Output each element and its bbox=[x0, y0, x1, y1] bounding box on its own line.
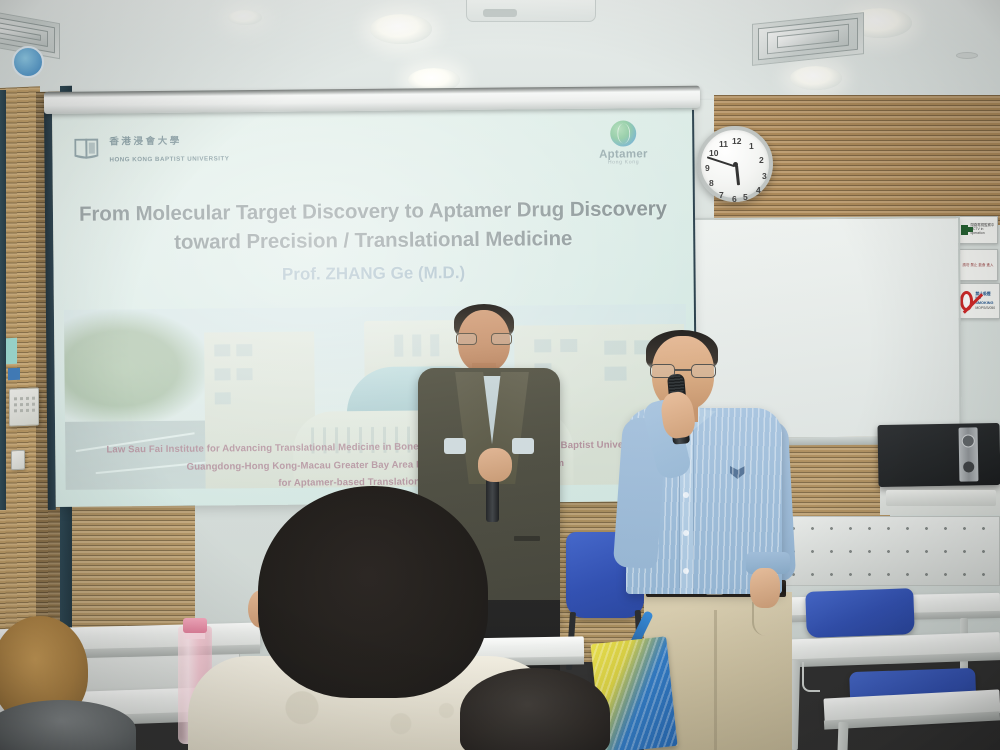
clock-hour-hand bbox=[735, 165, 740, 185]
hands bbox=[478, 448, 512, 482]
hkbu-logo: 香港浸會大學 HONG KONG BAPTIST UNIVERSITY bbox=[74, 130, 229, 166]
bottle-cap[interactable] bbox=[183, 618, 207, 633]
projector-mount bbox=[466, 0, 596, 22]
desk-modesty-panel bbox=[764, 516, 1000, 586]
clock-numeral: 2 bbox=[759, 155, 764, 165]
prohibition-notice: 請勿 禁止 飲食 進入 bbox=[958, 249, 998, 281]
no-smoking-code: MOPS/S/050 bbox=[975, 306, 997, 310]
clock-numeral: 12 bbox=[732, 136, 741, 146]
av-control-panel[interactable] bbox=[9, 387, 39, 426]
prohibition-notice-text: 請勿 禁止 飲食 進入 bbox=[962, 263, 993, 267]
hkbu-logo-chinese: 香港浸會大學 bbox=[109, 136, 182, 148]
clock-numeral: 11 bbox=[719, 139, 728, 149]
smoke-detector-icon bbox=[956, 52, 978, 59]
dell-monitor bbox=[877, 423, 1000, 487]
slide-title-line1: From Molecular Target Discovery to Aptam… bbox=[79, 197, 667, 226]
ceiling-downlight bbox=[228, 10, 262, 25]
ceiling-downlight bbox=[790, 66, 842, 90]
blazer-pocket bbox=[514, 536, 540, 541]
dna-globe-icon bbox=[610, 120, 636, 146]
shirt-button bbox=[683, 530, 689, 536]
no-smoking-icon bbox=[960, 291, 973, 311]
clock-numeral: 1 bbox=[749, 141, 754, 151]
glasses-icon bbox=[456, 333, 512, 345]
aptamer-logo: Aptamer Hong Kong bbox=[588, 120, 658, 166]
shirt-cuff bbox=[512, 438, 534, 454]
shirt-cuff bbox=[444, 438, 466, 454]
classroom-chair[interactable] bbox=[805, 588, 915, 638]
door[interactable] bbox=[0, 90, 6, 510]
tote-bag-badge bbox=[12, 46, 44, 78]
open-book-icon bbox=[74, 136, 102, 161]
slide-title-line2: toward Precision / Translational Medicin… bbox=[65, 223, 681, 258]
clock-numeral: 3 bbox=[762, 171, 767, 181]
no-smoking-notice: 禁止吸煙 NO SMOKING MOPS/S/050 bbox=[956, 283, 1000, 319]
audience-member-dark-hair bbox=[460, 668, 610, 750]
desk-leg bbox=[837, 722, 848, 750]
keyboard[interactable] bbox=[886, 490, 996, 506]
audience-member-head bbox=[258, 486, 488, 698]
cctv-camera-icon bbox=[961, 225, 968, 235]
shirt-chest-logo bbox=[730, 466, 745, 479]
clock-numeral: 8 bbox=[709, 178, 714, 188]
wall-sticker bbox=[6, 338, 17, 364]
slide-title: From Molecular Target Discovery to Aptam… bbox=[65, 194, 682, 258]
cctv-notice-text: 閉路電視監察中 CCTV in operation bbox=[971, 224, 995, 236]
cable-management-hook bbox=[802, 662, 820, 692]
slide-presenter: Prof. ZHANG Ge (M.D.) bbox=[65, 261, 681, 287]
clock-numeral: 9 bbox=[705, 163, 710, 173]
ceiling-air-vent bbox=[752, 12, 864, 66]
wood-slat-wall-panel bbox=[0, 86, 40, 648]
wall-sticker bbox=[8, 368, 20, 380]
shirt-button bbox=[683, 492, 689, 498]
lecture-hall-photo: 12 1 2 3 4 5 6 7 8 9 10 11 閉路電視監察中 CCTV … bbox=[0, 0, 1000, 750]
ceiling-downlight bbox=[370, 14, 432, 44]
clock-numeral: 7 bbox=[719, 190, 724, 200]
cctv-notice: 閉路電視監察中 CCTV in operation bbox=[956, 216, 998, 244]
clock-minute-hand bbox=[707, 156, 735, 167]
clock-center-pin bbox=[733, 162, 738, 167]
clock-numeral: 5 bbox=[743, 192, 748, 202]
projected-slide: 香港浸會大學 HONG KONG BAPTIST UNIVERSITY Apta… bbox=[52, 106, 696, 507]
shirt-button bbox=[683, 568, 689, 574]
clock-numeral: 6 bbox=[732, 194, 737, 204]
clock-numeral: 4 bbox=[756, 185, 761, 195]
light-switch[interactable] bbox=[11, 450, 25, 470]
whiteboard[interactable] bbox=[692, 216, 962, 440]
wall-clock: 12 1 2 3 4 5 6 7 8 9 10 11 bbox=[697, 126, 773, 202]
hkbu-logo-english: HONG KONG BAPTIST UNIVERSITY bbox=[109, 156, 229, 164]
right-hand bbox=[750, 568, 780, 608]
perforation-pattern bbox=[765, 517, 999, 585]
